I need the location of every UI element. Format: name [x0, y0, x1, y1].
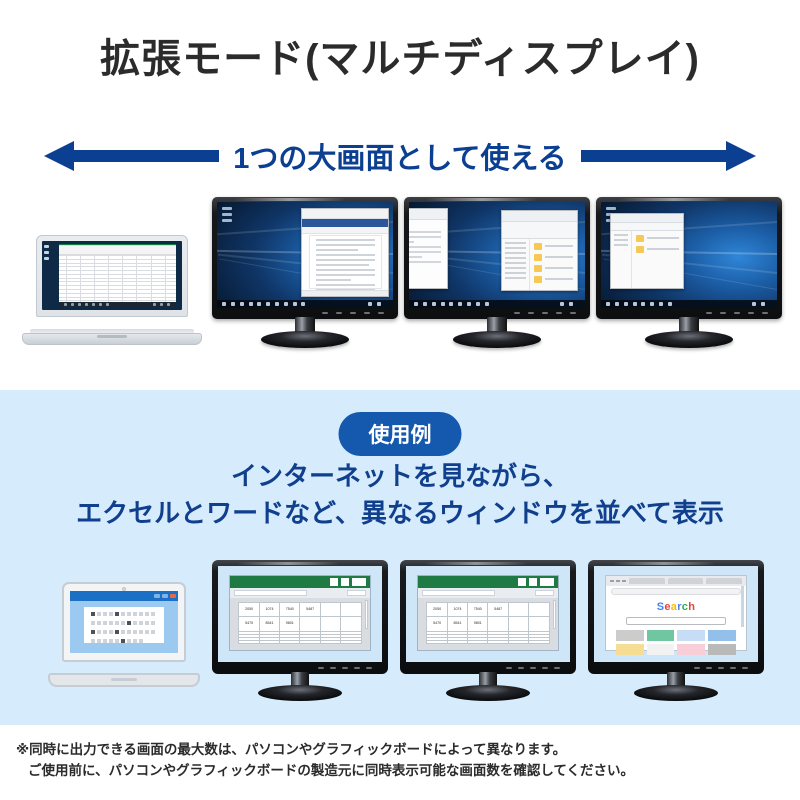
monitor-3-osd-buttons[interactable]	[706, 310, 776, 317]
tile[interactable]	[647, 644, 675, 655]
monitor-5-bezel: 2050 1074 7540 5487 5470	[400, 560, 576, 674]
cell[interactable]	[341, 617, 361, 631]
cell[interactable]	[341, 641, 361, 644]
excel-window	[59, 244, 177, 307]
vertical-scrollbar[interactable]	[741, 586, 744, 627]
word-status-bar	[302, 290, 388, 296]
formula-input[interactable]	[234, 590, 306, 596]
monitor-3-taskbar	[601, 300, 777, 308]
toolbar-box[interactable]	[347, 590, 365, 596]
vertical-scrollbar[interactable]	[365, 600, 368, 630]
text-line	[91, 630, 157, 634]
spreadsheet-window: 2050 1074 7540 5487 5470	[229, 575, 370, 652]
spreadsheet-window: 2050 1074 7540 5487 5470	[417, 575, 558, 652]
maximize-icon[interactable]	[529, 578, 537, 586]
monitor-1	[212, 197, 398, 347]
browser-window: Search	[605, 575, 746, 652]
footer-note: ※同時に出力できる画面の最大数は、パソコンやグラフィックボードによって異なります…	[0, 725, 800, 800]
cell[interactable]	[239, 641, 259, 644]
cell[interactable]	[529, 603, 549, 617]
cell[interactable]: 1074	[259, 603, 279, 617]
monitor-5-base	[446, 685, 530, 701]
cell[interactable]: 2050	[427, 603, 447, 617]
use-case-headline: インターネットを見ながら、 エクセルとワードなど、異なるウィンドウを並べて表示	[0, 458, 800, 532]
window-title-bar	[409, 209, 447, 220]
monitor-1-screen	[217, 202, 393, 308]
monitor-3-base	[645, 331, 733, 348]
use-case-headline-line2: エクセルとワードなど、異なるウィンドウを並べて表示	[0, 495, 800, 532]
table-row	[427, 641, 549, 644]
right-arrow-icon	[581, 139, 756, 173]
extended-mode-section: 拡張モード(マルチディスプレイ) 1つの大画面として使える	[0, 0, 800, 390]
cell[interactable]	[341, 603, 361, 617]
word-title-bar	[302, 209, 388, 219]
cell[interactable]: 5487	[488, 603, 508, 617]
laptop-lid	[62, 582, 186, 662]
tile[interactable]	[677, 630, 705, 641]
monitor-2-screen	[409, 202, 585, 308]
cell[interactable]	[447, 641, 467, 644]
table-row: 2050 1074 7540 5487	[239, 603, 361, 617]
logo-letter: h	[688, 601, 695, 613]
list-item	[636, 235, 678, 242]
word-window	[301, 208, 389, 297]
promo-page: 拡張モード(マルチディスプレイ) 1つの大画面として使える	[0, 0, 800, 800]
close-icon[interactable]	[352, 578, 366, 586]
tile[interactable]	[708, 630, 736, 641]
cell[interactable]: 2050	[239, 603, 259, 617]
laptop-illustration	[48, 582, 200, 687]
explorer-ribbon	[611, 223, 683, 230]
laptop-screen	[42, 241, 182, 310]
cell[interactable]	[488, 617, 508, 631]
cell[interactable]: 9801	[280, 617, 300, 631]
vertical-scrollbar[interactable]	[553, 600, 556, 630]
search-logo: Search	[606, 601, 745, 613]
monitor-2-taskbar	[409, 300, 585, 308]
formula-input[interactable]	[422, 590, 494, 596]
laptop-lid	[36, 235, 188, 317]
cell[interactable]: 7540	[468, 603, 488, 617]
arrow-banner-label: 1つの大画面として使える	[233, 135, 566, 177]
minimize-icon[interactable]	[518, 578, 526, 586]
monitor-4-spreadsheet: 2050 1074 7540 5487 5470	[212, 560, 388, 700]
arrow-banner: 1つの大画面として使える	[0, 132, 800, 180]
cell[interactable]: 8541	[447, 617, 467, 631]
maximize-icon[interactable]	[341, 578, 349, 586]
cell[interactable]: 1074	[447, 603, 467, 617]
cell[interactable]	[280, 641, 300, 644]
list-item	[534, 243, 573, 250]
browser-menu-icon[interactable]	[610, 580, 626, 582]
tile[interactable]	[708, 644, 736, 655]
monitor-1-osd-buttons[interactable]	[322, 310, 392, 317]
desktop-icons	[44, 245, 51, 262]
browser-address-bar[interactable]	[611, 588, 740, 595]
table-row: 5470 8541 9801	[427, 617, 549, 631]
tile[interactable]	[677, 644, 705, 655]
spreadsheet-grid-wrap: 2050 1074 7540 5487 5470	[230, 598, 369, 650]
spreadsheet-rows: 2050 1074 7540 5487 5470	[427, 603, 549, 644]
use-case-section: 使用例 インターネットを見ながら、 エクセルとワードなど、異なるウィンドウを並べ…	[0, 390, 800, 725]
cell[interactable]	[529, 641, 549, 644]
word-window-spill	[409, 208, 448, 289]
window-title-bar	[70, 591, 178, 601]
cell[interactable]	[320, 617, 340, 631]
laptop-photo	[22, 235, 202, 345]
spreadsheet-title-bar	[230, 576, 369, 589]
use-case-badge: 使用例	[339, 412, 462, 456]
explorer-ribbon	[502, 222, 577, 239]
laptop-taskbar	[59, 302, 177, 308]
cell[interactable]	[320, 603, 340, 617]
search-input[interactable]	[626, 617, 726, 625]
monitor-4-base	[258, 685, 342, 701]
page-title: 拡張モード(マルチディスプレイ)	[0, 34, 800, 84]
explorer-body	[502, 239, 577, 290]
cell[interactable]	[529, 617, 549, 631]
monitor-3-bezel	[596, 197, 782, 319]
excel-grid	[59, 255, 177, 302]
cell[interactable]	[508, 617, 528, 631]
cell[interactable]: 7540	[280, 603, 300, 617]
monitor-6-bezel: Search	[588, 560, 764, 674]
explorer-body	[611, 231, 683, 288]
text-line	[91, 639, 157, 643]
cell[interactable]	[488, 641, 508, 644]
list-item	[534, 265, 573, 272]
monitor-4-bezel: 2050 1074 7540 5487 5470	[212, 560, 388, 674]
browser-tab[interactable]	[629, 578, 664, 584]
monitor-3-screen	[601, 202, 777, 308]
tile[interactable]	[647, 630, 675, 641]
spreadsheet-title-bar	[418, 576, 557, 589]
cell[interactable]: 9801	[468, 617, 488, 631]
list-item	[534, 254, 573, 261]
footer-line-2: ご使用前に、パソコンやグラフィックボードの製造元に同時表示可能な画面数を確認して…	[28, 761, 800, 782]
text-line	[91, 612, 157, 616]
spreadsheet-table[interactable]: 2050 1074 7540 5487 5470	[426, 602, 549, 644]
device-row-bottom: 2050 1074 7540 5487 5470	[0, 550, 800, 725]
word-ribbon	[302, 219, 388, 227]
monitor-1-base	[261, 331, 349, 348]
cell[interactable]	[508, 641, 528, 644]
monitor-1-taskbar	[217, 300, 393, 308]
spreadsheet-toolbar	[230, 588, 369, 598]
cell[interactable]	[320, 641, 340, 644]
cell[interactable]	[427, 641, 447, 644]
monitor-6-screen: Search	[594, 566, 758, 662]
monitor-6-base	[634, 685, 718, 701]
browser-tab[interactable]	[706, 578, 741, 584]
use-case-headline-line1: インターネットを見ながら、	[0, 458, 800, 495]
document-window	[84, 607, 164, 643]
monitor-1-bezel	[212, 197, 398, 319]
monitor-2	[404, 197, 590, 347]
cell[interactable]	[300, 617, 320, 631]
monitor-5-spreadsheet: 2050 1074 7540 5487 5470	[400, 560, 576, 700]
file-explorer-window	[501, 210, 578, 291]
toolbar-box[interactable]	[535, 590, 553, 596]
browser-tab-bar	[606, 576, 745, 586]
explorer-title-bar	[611, 214, 683, 224]
table-row: 5470 8541 9801	[239, 617, 361, 631]
monitor-4-screen: 2050 1074 7540 5487 5470	[218, 566, 382, 662]
table-row: 2050 1074 7540 5487	[427, 603, 549, 617]
explorer-nav-pane	[611, 231, 633, 288]
cell[interactable]: 5487	[300, 603, 320, 617]
cell[interactable]: 5470	[239, 617, 259, 631]
browser-tab[interactable]	[668, 578, 703, 584]
file-explorer-window	[610, 213, 684, 289]
shortcut-tiles	[616, 630, 735, 655]
spreadsheet-toolbar	[418, 588, 557, 598]
laptop-base	[48, 673, 200, 687]
explorer-file-list	[632, 231, 682, 288]
word-document-page	[309, 235, 381, 289]
monitor-4-osd-buttons[interactable]	[318, 665, 380, 671]
cell[interactable]	[468, 641, 488, 644]
laptop-base	[22, 333, 202, 345]
device-row-top	[0, 185, 800, 370]
list-item	[534, 276, 573, 283]
monitor-5-osd-buttons[interactable]	[506, 665, 568, 671]
cell[interactable]	[259, 641, 279, 644]
window-body	[409, 220, 447, 274]
monitor-2-base	[453, 331, 541, 348]
excel-ribbon	[59, 246, 177, 255]
monitor-6-osd-buttons[interactable]	[694, 665, 756, 671]
left-arrow-icon	[44, 139, 219, 173]
explorer-nav-pane	[502, 239, 531, 290]
spreadsheet-table[interactable]: 2050 1074 7540 5487 5470	[238, 602, 361, 644]
cell[interactable]: 5470	[427, 617, 447, 631]
monitor-2-bezel	[404, 197, 590, 319]
word-toolbar	[302, 227, 388, 234]
close-icon[interactable]	[540, 578, 554, 586]
cell[interactable]: 8541	[259, 617, 279, 631]
spreadsheet-grid-wrap: 2050 1074 7540 5487 5470	[418, 598, 557, 650]
footer-line-1: ※同時に出力できる画面の最大数は、パソコンやグラフィックボードによって異なります…	[16, 725, 800, 761]
explorer-title-bar	[502, 211, 577, 221]
tile[interactable]	[616, 644, 644, 655]
minimize-icon[interactable]	[330, 578, 338, 586]
monitor-2-osd-buttons[interactable]	[514, 310, 584, 317]
monitor-6-browser: Search	[588, 560, 764, 700]
explorer-file-list	[530, 239, 577, 290]
table-row	[239, 641, 361, 644]
cell[interactable]	[300, 641, 320, 644]
text-line	[91, 621, 157, 625]
spreadsheet-rows: 2050 1074 7540 5487 5470	[239, 603, 361, 644]
monitor-3	[596, 197, 782, 347]
list-item	[636, 246, 678, 253]
cell[interactable]	[508, 603, 528, 617]
monitor-5-screen: 2050 1074 7540 5487 5470	[406, 566, 570, 662]
desktop-icons	[222, 207, 236, 237]
tile[interactable]	[616, 630, 644, 641]
laptop-screen	[70, 591, 178, 653]
